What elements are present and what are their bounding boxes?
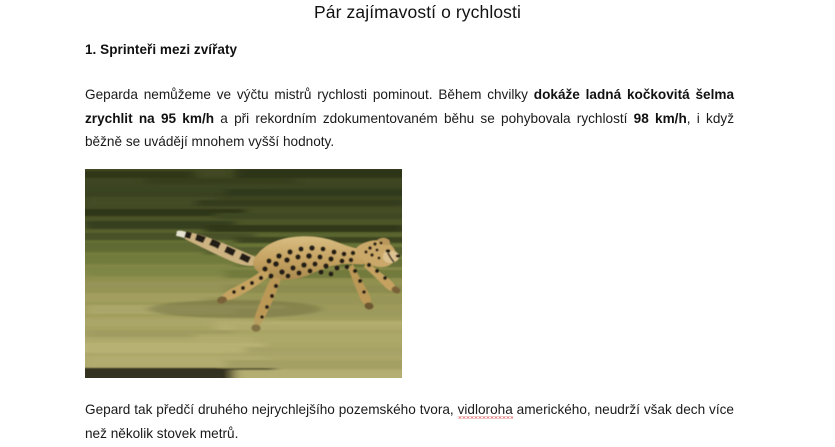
document-page: Pár zajímavostí o rychlosti 1. Sprinteři…: [0, 0, 835, 447]
cheetah-photo[interactable]: [85, 169, 402, 378]
cheetah-photo-image: [85, 169, 402, 378]
paragraph-bottom: Gepard tak předčí druhého nejrychlejšího…: [85, 398, 734, 445]
paragraph-top-bold-2: 98 km/h: [634, 111, 687, 126]
paragraph-bottom-text-1: Gepard tak předčí druhého nejrychlejšího…: [85, 402, 458, 417]
paragraph-top-text-1: Geparda nemůžeme ve výčtu mistrů rychlos…: [85, 87, 534, 102]
page-title: Pár zajímavostí o rychlosti: [0, 2, 835, 23]
paragraph-top: Geparda nemůžeme ve výčtu mistrů rychlos…: [85, 83, 734, 154]
paragraph-top-text-2: a při rekordním zdokumentovaném běhu se …: [214, 111, 634, 126]
section-heading: 1. Sprinteři mezi zvířaty: [85, 42, 237, 57]
misspelled-word[interactable]: vidloroha: [458, 402, 513, 419]
